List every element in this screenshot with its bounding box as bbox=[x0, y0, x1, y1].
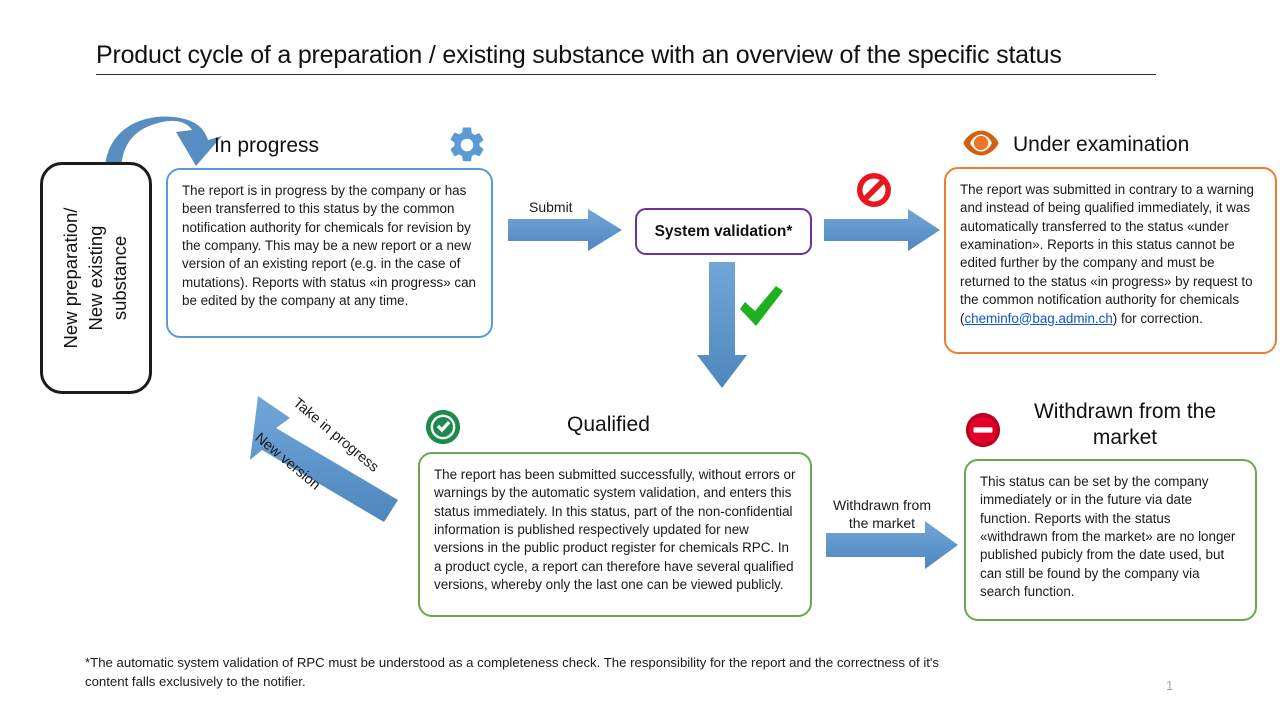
system-validation-node: System validation* bbox=[635, 208, 812, 255]
eye-icon bbox=[962, 124, 1000, 167]
slide-canvas: Product cycle of a preparation / existin… bbox=[0, 0, 1280, 720]
status-body-withdrawn: This status can be set by the company im… bbox=[980, 474, 1235, 599]
cheminfo-email-link[interactable]: cheminfo@bag.admin.ch bbox=[964, 311, 1112, 326]
status-heading-under-examination: Under examination bbox=[1013, 133, 1189, 157]
prohibit-icon bbox=[854, 170, 894, 215]
system-validation-label: System validation* bbox=[655, 223, 793, 241]
status-card-withdrawn: This status can be set by the company im… bbox=[964, 459, 1257, 621]
page-number: 1 bbox=[1166, 678, 1173, 693]
status-body-qualified: The report has been submitted successful… bbox=[434, 467, 795, 592]
footnote: *The automatic system validation of RPC … bbox=[85, 654, 965, 691]
arrow-label-withdrawn-from-the-market: Withdrawn from the market bbox=[822, 497, 942, 532]
status-heading-in-progress: In progress bbox=[214, 134, 319, 158]
check-icon bbox=[736, 285, 786, 336]
to-under-examination-arrow bbox=[824, 209, 940, 251]
status-card-under-examination: The report was submitted in contrary to … bbox=[944, 167, 1277, 354]
arrow-label-submit: Submit bbox=[529, 199, 573, 215]
no-entry-icon bbox=[964, 411, 1002, 454]
submit-arrow bbox=[508, 209, 622, 251]
arrow-label-new-version: New version bbox=[252, 430, 323, 494]
status-card-qualified: The report has been submitted successful… bbox=[418, 452, 812, 617]
status-card-in-progress: The report is in progress by the company… bbox=[166, 168, 493, 338]
status-heading-qualified: Qualified bbox=[567, 413, 650, 437]
circle-check-icon bbox=[424, 408, 462, 451]
start-node: New preparation/ New existing substance bbox=[40, 162, 152, 394]
arrow-label-take-in-progress: Take in progress bbox=[290, 395, 382, 476]
start-node-label: New preparation/ New existing substance bbox=[59, 208, 133, 349]
status-body-under-examination-part2: ) for correction. bbox=[1113, 311, 1203, 326]
gear-icon bbox=[446, 124, 488, 171]
status-body-under-examination-part1: The report was submitted in contrary to … bbox=[960, 182, 1254, 326]
status-heading-withdrawn: Withdrawn from the market bbox=[1010, 399, 1240, 451]
page-title: Product cycle of a preparation / existin… bbox=[96, 41, 1156, 75]
status-body-in-progress: The report is in progress by the company… bbox=[182, 183, 476, 308]
